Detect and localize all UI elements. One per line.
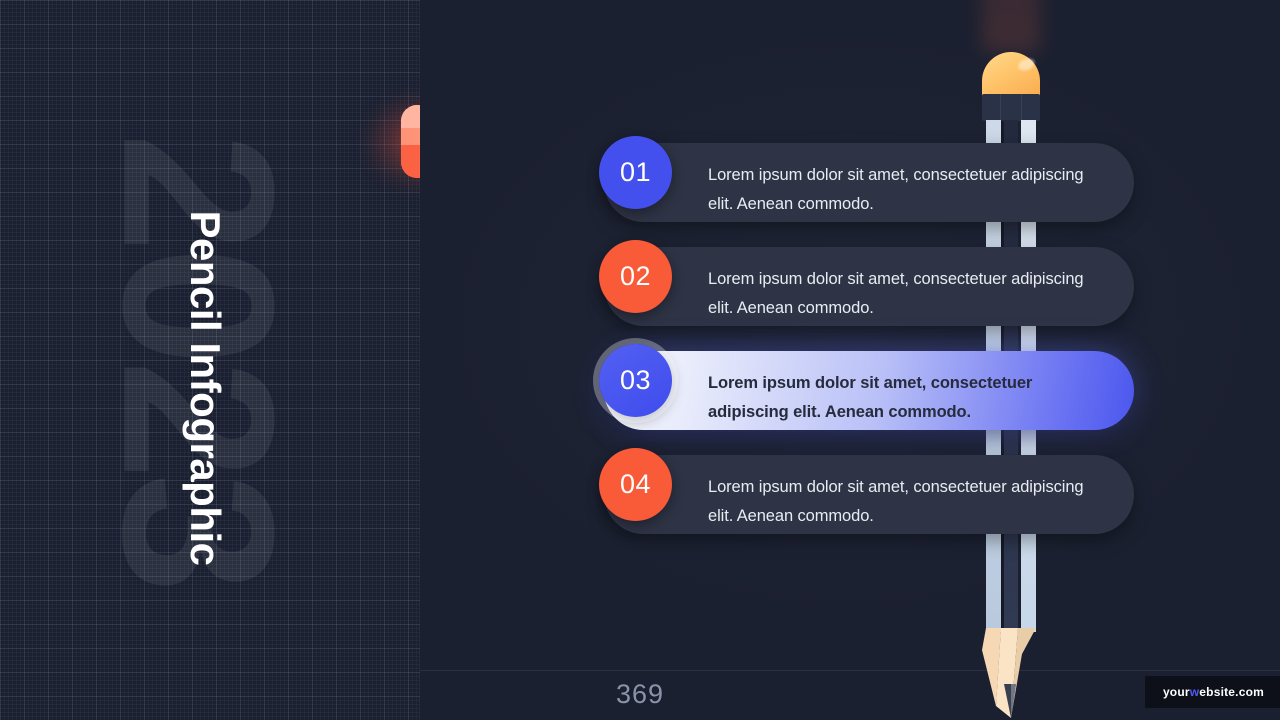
item-number-badge[interactable]: 01 [599,136,672,209]
website-suffix: ebsite.com [1199,685,1264,699]
capsule-segment-middle [401,128,420,145]
slide-root: 2023 Pencil Infographic [0,0,1280,720]
capsule-segment-bottom [401,145,420,178]
item-number-badge[interactable]: 03 [599,344,672,417]
capsule-segment-top [401,105,420,128]
footer-divider [420,670,1280,671]
page-title: Pencil Infographic [181,210,229,565]
item-text: Lorem ipsum dolor sit amet, consectetuer… [708,473,1108,532]
items-list: 01 Lorem ipsum dolor sit amet, consectet… [420,0,1280,720]
list-item[interactable]: 04 Lorem ipsum dolor sit amet, consectet… [604,455,1134,534]
list-item-active[interactable]: 03 Lorem ipsum dolor sit amet, consectet… [604,351,1134,430]
list-item[interactable]: 02 Lorem ipsum dolor sit amet, consectet… [604,247,1134,326]
capsule-accent [401,105,420,178]
website-badge[interactable]: yourwebsite.com [1145,676,1280,708]
item-number-badge[interactable]: 04 [599,448,672,521]
left-panel: 2023 Pencil Infographic [0,0,420,720]
item-text: Lorem ipsum dolor sit amet, consectetuer… [708,161,1108,220]
website-accent-letter: w [1190,685,1200,699]
content-stage: 01 Lorem ipsum dolor sit amet, consectet… [420,0,1280,720]
item-number-badge[interactable]: 02 [599,240,672,313]
list-item[interactable]: 01 Lorem ipsum dolor sit amet, consectet… [604,143,1134,222]
item-text: Lorem ipsum dolor sit amet, consectetuer… [708,369,1108,428]
website-prefix: your [1163,685,1190,699]
item-text: Lorem ipsum dolor sit amet, consectetuer… [708,265,1108,324]
slide-number: 369 [616,679,664,710]
